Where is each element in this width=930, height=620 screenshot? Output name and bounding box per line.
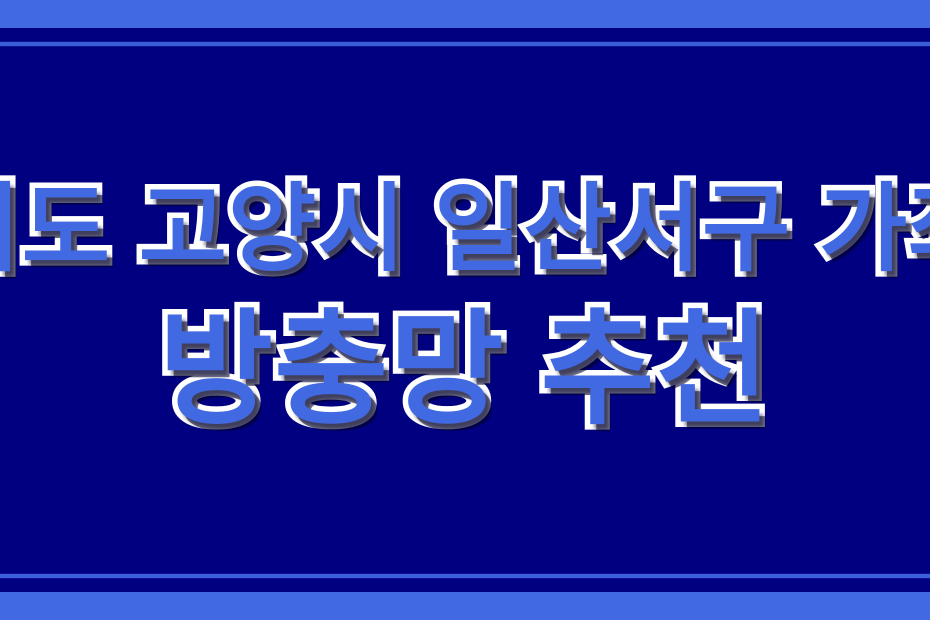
headline-line-1: 경기도 고양시 일산서구 가좌동: [0, 176, 930, 284]
headline-block: 경기도 고양시 일산서구 가좌동 방충망 추천: [0, 0, 930, 620]
bottom-accent-band: [0, 592, 930, 620]
top-divider-rule: [0, 42, 930, 46]
headline-line-2: 방충망 추천: [159, 301, 771, 440]
promo-banner: 경기도 고양시 일산서구 가좌동 방충망 추천: [0, 0, 930, 620]
top-accent-band: [0, 0, 930, 28]
bottom-divider-rule: [0, 574, 930, 578]
